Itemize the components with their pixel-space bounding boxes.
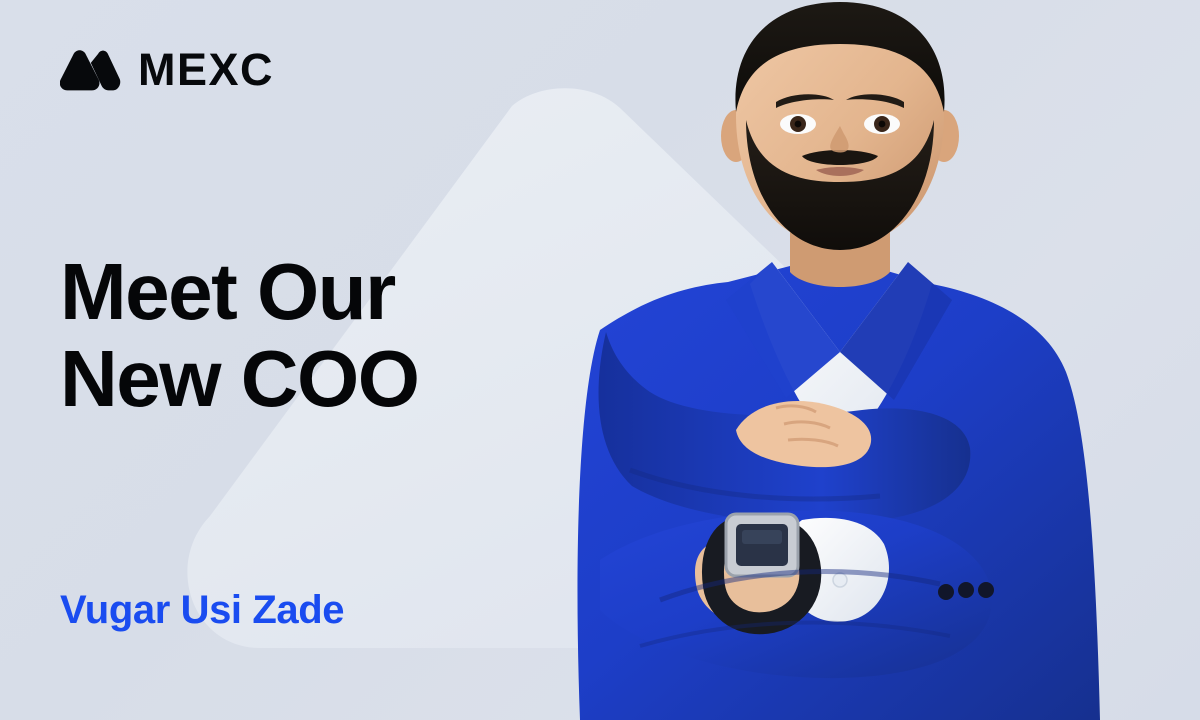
mexc-wordmark: MEXC (138, 47, 274, 93)
portrait-photo (540, 0, 1140, 720)
mexc-logo[interactable]: MEXC (60, 44, 274, 96)
person-name: Vugar Usi Zade (60, 588, 344, 633)
page-title: Meet Our New COO (60, 248, 418, 422)
mexc-mountain-icon (60, 47, 122, 93)
announcement-banner: MEXC Meet Our New COO Vugar Usi Zade (0, 0, 1200, 720)
